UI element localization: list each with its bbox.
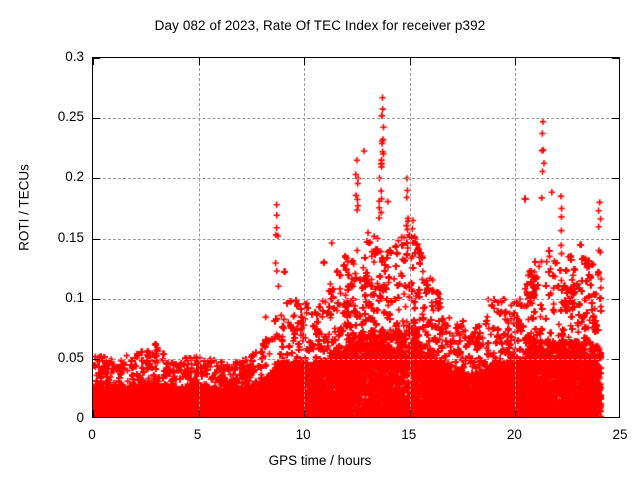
- y-tick-label: 0: [24, 411, 84, 425]
- gridline-vertical: [304, 58, 305, 417]
- y-axis-tick: [93, 359, 100, 360]
- x-axis-tick: [515, 410, 516, 417]
- gridline-horizontal: [93, 359, 619, 360]
- gridline-vertical: [410, 58, 411, 417]
- x-tick-label: 5: [168, 428, 228, 442]
- y-tick-label: 0.3: [24, 50, 84, 64]
- y-axis-tick: [612, 359, 619, 360]
- x-axis-tick: [410, 410, 411, 417]
- x-axis-tick: [304, 410, 305, 417]
- x-axis-tick: [410, 58, 411, 65]
- x-axis-tick: [93, 58, 94, 65]
- x-axis-tick: [199, 58, 200, 65]
- x-axis-title: GPS time / hours: [0, 453, 640, 468]
- y-tick-label: 0.05: [24, 351, 84, 365]
- gridline-horizontal: [93, 299, 619, 300]
- y-axis-tick: [93, 58, 100, 59]
- y-axis-tick: [93, 118, 100, 119]
- y-axis-tick: [612, 239, 619, 240]
- gridline-vertical: [199, 58, 200, 417]
- y-tick-label: 0.2: [24, 170, 84, 184]
- x-axis-tick: [304, 58, 305, 65]
- x-axis-tick: [199, 410, 200, 417]
- y-tick-label: 0.1: [24, 291, 84, 305]
- gridline-horizontal: [93, 178, 619, 179]
- plot-area: [92, 57, 620, 418]
- y-axis-tick: [93, 178, 100, 179]
- x-tick-label: 20: [484, 428, 544, 442]
- x-axis-tick: [93, 410, 94, 417]
- gridline-vertical: [515, 58, 516, 417]
- gridline-horizontal: [93, 239, 619, 240]
- y-tick-label: 0.25: [24, 110, 84, 124]
- y-tick-label: 0.15: [24, 231, 84, 245]
- y-axis-tick: [612, 178, 619, 179]
- y-axis-tick: [612, 118, 619, 119]
- gridline-horizontal: [93, 118, 619, 119]
- y-axis-tick: [93, 239, 100, 240]
- x-tick-label: 15: [379, 428, 439, 442]
- x-tick-label: 25: [590, 428, 640, 442]
- roti-scatter-plot: Day 082 of 2023, Rate Of TEC Index for r…: [0, 0, 640, 480]
- y-axis-tick: [93, 299, 100, 300]
- x-tick-label: 10: [273, 428, 333, 442]
- page-title: Day 082 of 2023, Rate Of TEC Index for r…: [0, 18, 640, 33]
- y-axis-tick: [612, 58, 619, 59]
- y-axis-title: ROTI / TECUs: [17, 138, 32, 278]
- x-tick-label: 0: [62, 428, 122, 442]
- x-axis-tick: [515, 58, 516, 65]
- y-axis-tick: [612, 299, 619, 300]
